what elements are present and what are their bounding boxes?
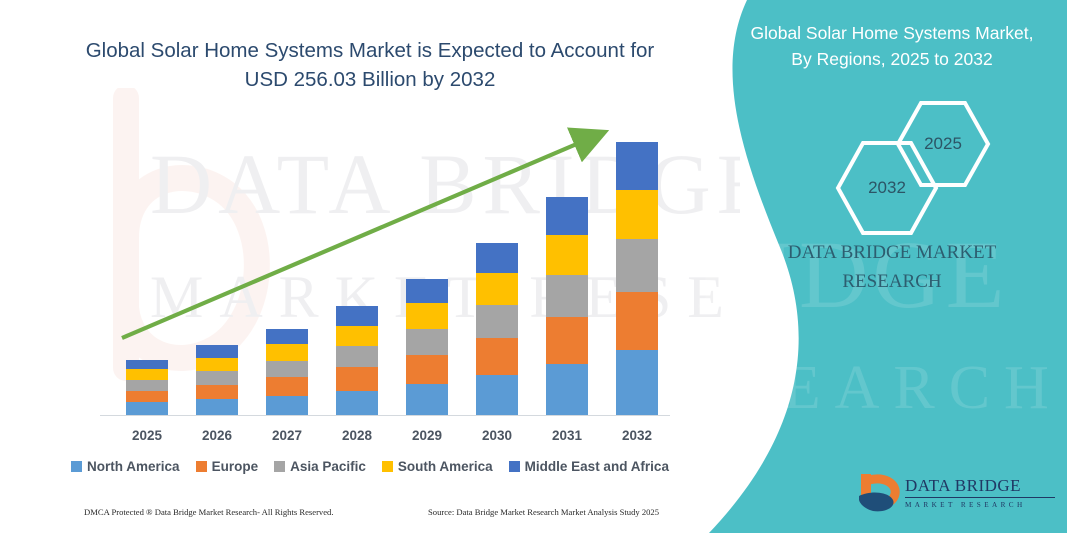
bar-2029[interactable] <box>406 279 448 415</box>
x-axis-label-2032: 2032 <box>602 428 672 443</box>
legend-swatch-icon <box>509 461 520 472</box>
legend-label: Asia Pacific <box>290 459 366 474</box>
bar-segment <box>196 345 238 358</box>
bar-2030[interactable] <box>476 243 518 415</box>
bar-segment <box>406 384 448 415</box>
brand-title-line1: Global Solar Home Systems Market, <box>727 20 1057 46</box>
chart-title: Global Solar Home Systems Market is Expe… <box>70 36 670 94</box>
bar-2025[interactable] <box>126 360 168 415</box>
bar-2026[interactable] <box>196 345 238 415</box>
bar-segment <box>196 399 238 415</box>
bar-segment <box>546 235 588 275</box>
bar-segment <box>616 190 658 240</box>
legend-swatch-icon <box>274 461 285 472</box>
logo-subtitle: MARKET RESEARCH <box>905 501 1055 509</box>
bar-2031[interactable] <box>546 197 588 415</box>
bar-segment <box>266 344 308 361</box>
legend-item[interactable]: South America <box>382 459 493 474</box>
legend-label: Europe <box>212 459 259 474</box>
bar-segment <box>546 317 588 364</box>
bar-segment <box>476 243 518 273</box>
plot-area <box>112 110 672 415</box>
legend-label: North America <box>87 459 180 474</box>
logo-text: DATA BRIDGE MARKET RESEARCH <box>905 476 1055 509</box>
bar-segment <box>196 371 238 385</box>
bar-2027[interactable] <box>266 329 308 415</box>
legend-item[interactable]: Asia Pacific <box>274 459 366 474</box>
bar-segment <box>616 350 658 415</box>
brand-name-line2: RESEARCH <box>727 267 1057 296</box>
brand-panel: BRIDGE RESEARCH Global Solar Home System… <box>687 0 1067 533</box>
bar-2032[interactable] <box>616 142 658 415</box>
legend-item[interactable]: Middle East and Africa <box>509 459 669 474</box>
bar-segment <box>406 329 448 355</box>
footer-copyright: DMCA Protected ® Data Bridge Market Rese… <box>84 507 334 517</box>
bar-segment <box>196 385 238 400</box>
footer: DMCA Protected ® Data Bridge Market Rese… <box>0 507 740 527</box>
brand-name-line1: DATA BRIDGE MARKET <box>727 238 1057 267</box>
bar-segment <box>126 369 168 380</box>
legend-swatch-icon <box>71 461 82 472</box>
legend-item[interactable]: North America <box>71 459 180 474</box>
bar-segment <box>476 305 518 338</box>
logo-mark-icon <box>855 470 903 516</box>
bar-segment <box>126 391 168 403</box>
bar-segment <box>266 329 308 345</box>
chart-legend: North AmericaEuropeAsia PacificSouth Ame… <box>0 459 740 474</box>
x-axis-label-2029: 2029 <box>392 428 462 443</box>
bar-segment <box>266 377 308 395</box>
brand-title-line2: By Regions, 2025 to 2032 <box>727 46 1057 72</box>
hexagon-2032-label: 2032 <box>835 140 939 236</box>
bar-segment <box>406 355 448 384</box>
x-axis-label-2030: 2030 <box>462 428 532 443</box>
bar-segment <box>616 292 658 350</box>
bar-segment <box>266 396 308 415</box>
logo-title: DATA BRIDGE <box>905 476 1055 498</box>
bar-2028[interactable] <box>336 306 378 415</box>
x-axis-line <box>100 415 670 416</box>
chart-panel: DATA BRIDGE MARKET RESEARCH Global Solar… <box>0 0 740 533</box>
legend-swatch-icon <box>196 461 207 472</box>
bar-segment <box>546 197 588 235</box>
bar-segment <box>126 380 168 391</box>
legend-label: Middle East and Africa <box>525 459 669 474</box>
bar-segment <box>406 303 448 328</box>
legend-item[interactable]: Europe <box>196 459 259 474</box>
bar-segment <box>336 326 378 346</box>
bar-segment <box>126 360 168 370</box>
brand-panel-title: Global Solar Home Systems Market, By Reg… <box>727 20 1057 73</box>
x-axis-label-2026: 2026 <box>182 428 252 443</box>
x-axis-label-2025: 2025 <box>112 428 182 443</box>
x-axis-label-2027: 2027 <box>252 428 322 443</box>
bar-segment <box>266 361 308 378</box>
bar-segment <box>476 338 518 375</box>
bar-segment <box>336 306 378 325</box>
legend-swatch-icon <box>382 461 393 472</box>
hexagon-badge-2032: 2032 <box>835 140 939 236</box>
bar-segment <box>336 367 378 390</box>
bar-segment <box>476 375 518 415</box>
bar-segment <box>546 275 588 317</box>
company-logo: DATA BRIDGE MARKET RESEARCH <box>855 470 1051 520</box>
bar-segment <box>336 391 378 415</box>
bar-segment <box>546 364 588 415</box>
footer-source: Source: Data Bridge Market Research Mark… <box>428 507 659 517</box>
x-axis-label-2028: 2028 <box>322 428 392 443</box>
bar-segment <box>126 402 168 415</box>
bar-segment <box>616 142 658 190</box>
bar-segment <box>616 239 658 291</box>
x-axis-labels: 20252026202720282029203020312032 <box>112 428 672 448</box>
bar-segment <box>336 346 378 367</box>
bar-segment <box>476 273 518 305</box>
legend-label: South America <box>398 459 493 474</box>
bar-segment <box>196 358 238 372</box>
bar-segment <box>406 279 448 303</box>
x-axis-label-2031: 2031 <box>532 428 602 443</box>
brand-name: DATA BRIDGE MARKET RESEARCH <box>727 238 1057 297</box>
